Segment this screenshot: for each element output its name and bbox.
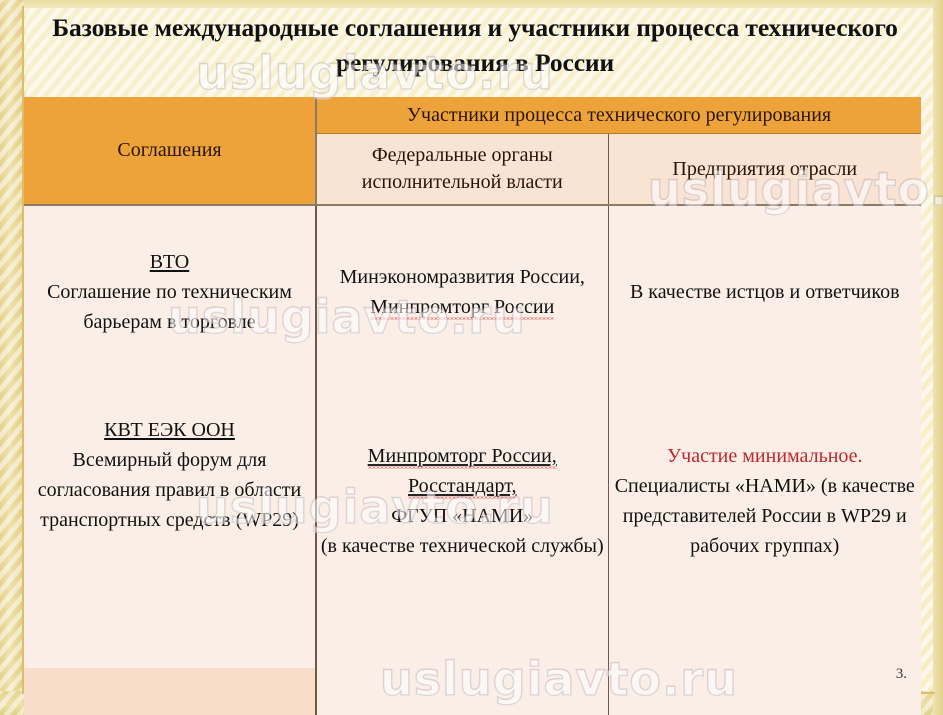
- page-number: 3.: [896, 666, 907, 683]
- cell-empty-enterprises: [608, 668, 921, 715]
- enterprises-detail: Специалисты «НАМИ» (в качестве представи…: [609, 471, 922, 561]
- federal-body-line-2: Росстандарт,: [408, 475, 516, 499]
- cell-federal-wto: Минэкономразвития России, Минпромторг Ро…: [316, 205, 608, 378]
- table-header-row-group: Соглашения Участники процесса техническо…: [24, 97, 921, 134]
- cell-empty-federal: [316, 668, 608, 715]
- cell-agreement-kvt: КВТ ЕЭК ООН Всемирный форум для согласов…: [24, 378, 316, 668]
- header-cell-participants-group: Участники процесса технического регулиро…: [316, 97, 921, 134]
- federal-body-line-4: (в качестве технической службы): [317, 531, 608, 561]
- table-row: ВТО Соглашение по техническим барьерам в…: [24, 205, 921, 378]
- table-row: КВТ ЕЭК ООН Всемирный форум для согласов…: [24, 378, 921, 668]
- table-row-empty: [24, 668, 921, 715]
- header-cell-industry-enterprises: Предприятия отрасли: [608, 134, 921, 206]
- federal-body-line-3: ФГУП «НАМИ»: [317, 501, 608, 531]
- regulation-participants-table: Соглашения Участники процесса техническо…: [24, 97, 921, 715]
- frame-left-band: [0, 0, 24, 715]
- frame-top-band: [0, 0, 943, 8]
- federal-body-line-1: Минпромторг России,: [368, 445, 557, 469]
- agreement-name-kvt: КВТ ЕЭК ООН: [104, 419, 235, 441]
- header-cell-federal-bodies: Федеральные органы исполнительной власти: [316, 134, 608, 206]
- cell-empty-agreements: [24, 668, 316, 715]
- slide-title: Базовые международные соглашения и участ…: [30, 10, 920, 80]
- frame-right-band: [933, 0, 943, 715]
- slide-canvas: Базовые международные соглашения и участ…: [0, 0, 943, 715]
- cell-enterprises-kvt: Участие минимальное. Специалисты «НАМИ» …: [608, 378, 921, 668]
- cell-agreement-wto: ВТО Соглашение по техническим барьерам в…: [24, 205, 316, 378]
- cell-federal-kvt: Минпромторг России, Росстандарт, ФГУП «Н…: [316, 378, 608, 668]
- enterprises-highlight-note: Участие минимальное.: [609, 441, 922, 471]
- federal-body-line-1: Минэкономразвития России,: [317, 262, 608, 292]
- agreement-desc-wto: Соглашение по техническим барьерам в тор…: [24, 277, 315, 337]
- header-cell-agreements: Соглашения: [24, 97, 316, 205]
- agreement-name-wto: ВТО: [150, 251, 189, 273]
- agreement-desc-kvt: Всемирный форум для согласования правил …: [24, 445, 315, 535]
- federal-body-line-2: Минпромторг России: [370, 296, 554, 320]
- cell-enterprises-wto: В качестве истцов и ответчиков: [608, 205, 921, 378]
